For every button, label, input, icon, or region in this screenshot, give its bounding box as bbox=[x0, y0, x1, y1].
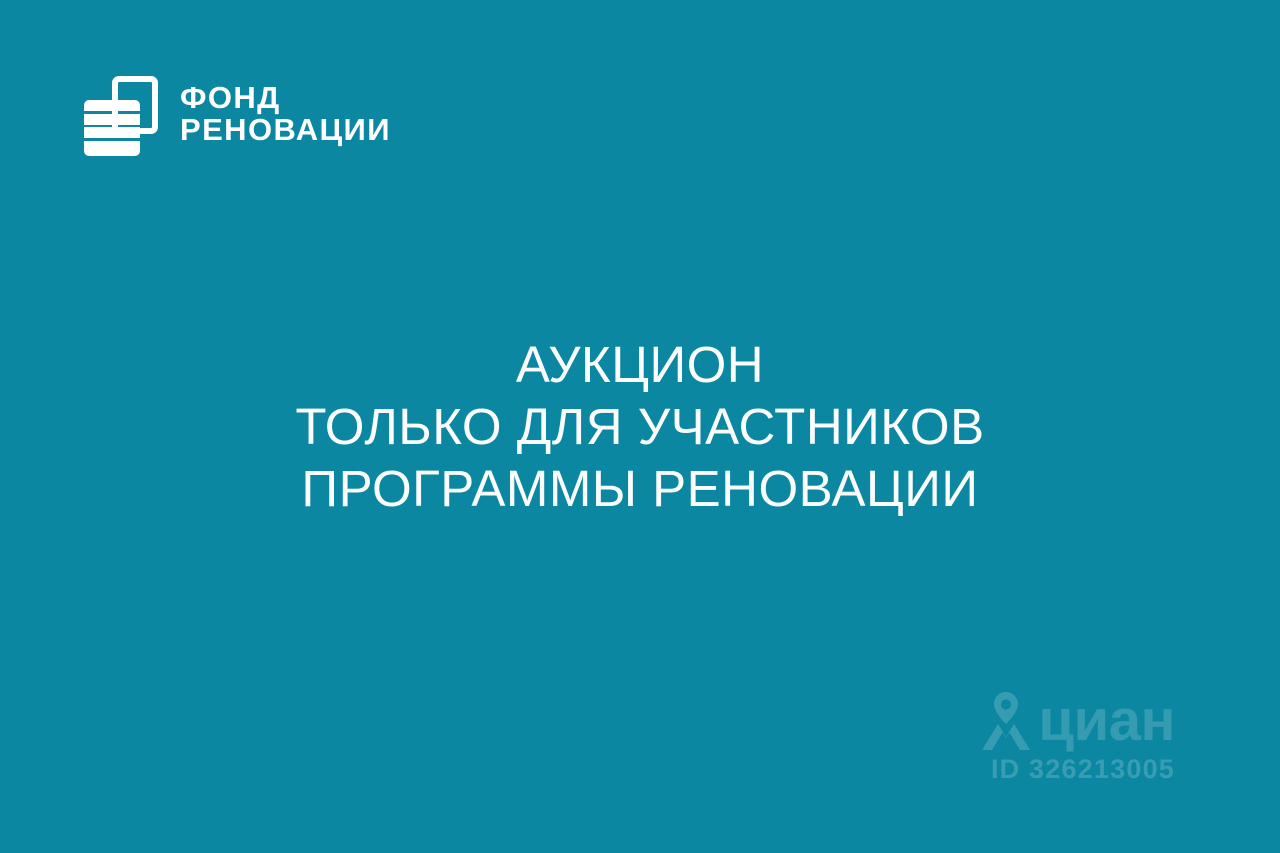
headline-line-2: ТОЛЬКО ДЛЯ УЧАСТНИКОВ bbox=[0, 396, 1280, 458]
headline-line-1: АУКЦИОН bbox=[0, 334, 1280, 396]
brand-lockup: ФОНД РЕНОВАЦИИ bbox=[84, 72, 391, 156]
cian-logo-row: циан bbox=[980, 690, 1175, 752]
logo-bar bbox=[84, 141, 140, 156]
brand-line-1: ФОНД bbox=[180, 82, 391, 114]
headline-line-3: ПРОГРАММЫ РЕНОВАЦИИ bbox=[0, 458, 1280, 520]
banner-canvas: ФОНД РЕНОВАЦИИ АУКЦИОН ТОЛЬКО ДЛЯ УЧАСТН… bbox=[0, 0, 1280, 853]
cian-watermark: циан ID 326213005 bbox=[980, 690, 1175, 785]
logo-bar bbox=[84, 100, 140, 111]
headline-block: АУКЦИОН ТОЛЬКО ДЛЯ УЧАСТНИКОВ ПРОГРАММЫ … bbox=[0, 334, 1280, 520]
brand-text: ФОНД РЕНОВАЦИИ bbox=[180, 82, 391, 145]
logo-bar bbox=[84, 127, 140, 138]
brand-line-2: РЕНОВАЦИИ bbox=[180, 114, 391, 146]
logo-stack-shape bbox=[84, 100, 140, 156]
listing-id-label: ID 326213005 bbox=[980, 754, 1175, 785]
cian-wordmark: циан bbox=[1038, 697, 1175, 745]
logo-bar bbox=[84, 114, 140, 125]
fond-renovacii-logo-icon bbox=[84, 72, 158, 156]
cian-pin-logo-icon bbox=[980, 690, 1032, 752]
